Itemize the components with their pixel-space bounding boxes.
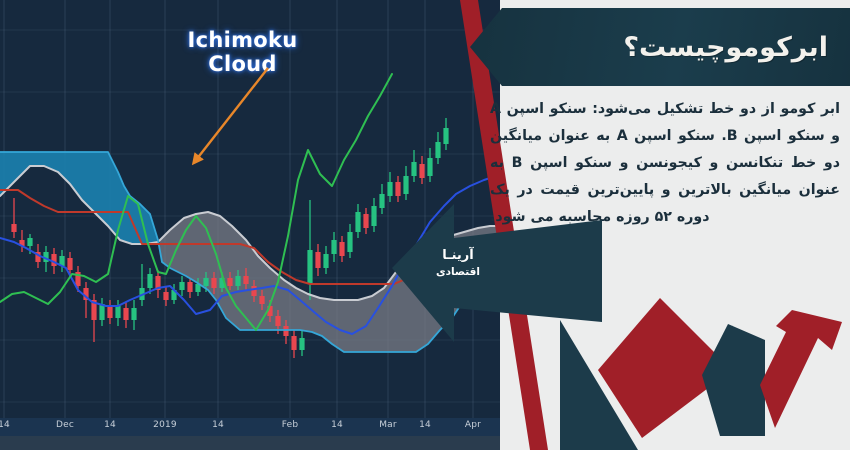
chart-footer-strip	[0, 436, 500, 450]
candle-body	[107, 306, 112, 318]
header-banner: ابرکوموچیست؟	[470, 8, 850, 86]
candle-body	[435, 142, 440, 158]
teal-quad-shape	[702, 324, 765, 436]
candle-body	[179, 282, 184, 290]
candle-body	[243, 276, 248, 284]
candle-body	[427, 158, 432, 176]
cloud-bullish-area	[0, 152, 158, 244]
annotation-arrow-icon	[160, 60, 280, 170]
x-axis-tick-label: 14	[331, 420, 343, 430]
candle-body	[323, 254, 328, 268]
infographic-canvas: Ichimoku Cloud 14Dec14201914Feb14Mar14Ap…	[0, 0, 850, 450]
x-axis-tick-label: Apr	[465, 420, 481, 430]
candle-body	[131, 308, 136, 320]
candle-body	[123, 308, 128, 320]
candle-body	[251, 286, 256, 296]
x-axis-tick-label: 14	[104, 420, 116, 430]
watermark-line-2: اقتصادی	[424, 264, 492, 280]
page-title: ابرکوموچیست؟	[623, 32, 828, 63]
candle-body	[379, 194, 384, 208]
candle-body	[259, 296, 264, 304]
candle-body	[411, 162, 416, 176]
candle-body	[443, 128, 448, 144]
candle-body	[51, 254, 56, 266]
x-axis-tick-label: 2019	[153, 420, 177, 430]
candle-body	[203, 278, 208, 286]
candle-body	[307, 250, 312, 284]
candle-body	[419, 164, 424, 178]
candle-body	[187, 282, 192, 292]
candle-body	[363, 214, 368, 228]
candle-body	[235, 276, 240, 286]
candle-body	[147, 274, 152, 288]
x-axis-tick-label: Mar	[379, 420, 397, 430]
candle-body	[371, 206, 376, 226]
candle-body	[291, 336, 296, 350]
candle-body	[163, 292, 168, 300]
candle-body	[227, 278, 232, 286]
watermark-line-1: آرینـا	[424, 248, 492, 264]
candle-body	[347, 232, 352, 252]
candle-body	[115, 306, 120, 318]
candle-body	[283, 326, 288, 336]
decorative-shapes	[560, 280, 850, 450]
candle-body	[11, 224, 16, 232]
candle-body	[275, 316, 280, 326]
x-axis-tick-label: 14	[0, 420, 10, 430]
candle-body	[299, 338, 304, 350]
candle-body	[331, 240, 336, 254]
x-axis-tick-label: 14	[212, 420, 224, 430]
chart-x-axis: 14Dec14201914Feb14Mar14Apr	[0, 418, 500, 436]
candle-body	[315, 252, 320, 268]
candle-body	[355, 212, 360, 232]
x-axis-tick-label: 14	[419, 420, 431, 430]
x-axis-tick-label: Feb	[282, 420, 299, 430]
candle-body	[339, 242, 344, 256]
watermark: آرینـا اقتصادی	[424, 248, 492, 280]
candle-body	[27, 238, 32, 246]
candle-body	[211, 278, 216, 288]
red-up-arrow-icon	[760, 310, 842, 428]
x-axis-tick-label: Dec	[56, 420, 74, 430]
candle-body	[67, 258, 72, 270]
